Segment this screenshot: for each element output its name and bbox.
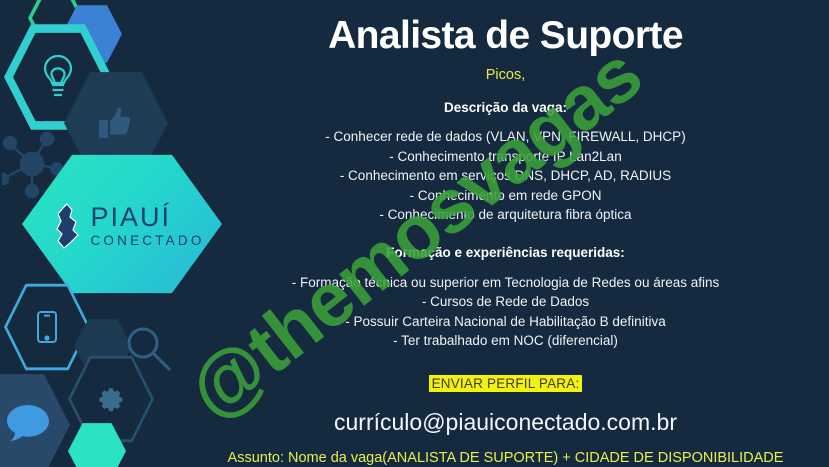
piaui-state-map-icon — [51, 203, 85, 249]
list-item: - Formação técnica ou superior em Tecnol… — [182, 273, 829, 293]
list-item: - Ter trabalhado em NOC (diferencial) — [182, 331, 829, 351]
list-item: - Conhecer rede de dados (VLAN, VPN, FIR… — [182, 127, 829, 147]
list-item: - Conhecimento transporte IP Lan2Lan — [182, 147, 829, 167]
job-content: Analista de Suporte Picos, Descrição da … — [182, 0, 829, 467]
job-posting-poster: PIAUÍ CONECTADO — [0, 0, 829, 467]
page-title: Analista de Suporte — [182, 0, 829, 57]
thumbs-up-icon — [96, 103, 136, 143]
send-profile-label: ENVIAR PERFIL PARA: — [429, 375, 583, 392]
list-item: - Conhecimento de arquitetura fibra ópti… — [182, 205, 829, 225]
list-item: - Conhecimento em rede GPON — [182, 186, 829, 206]
list-item: - Conhecimento em serviços DNS, DHCP, AD… — [182, 166, 829, 186]
requirements-heading: Formação e experiências requeridas: — [182, 245, 829, 260]
decor-hexagon-chat — [0, 372, 70, 467]
description-heading: Descrição da vaga: — [182, 100, 829, 115]
contact-email[interactable]: currículo@piauiconectado.com.br — [182, 409, 829, 436]
gear-icon — [97, 385, 125, 413]
email-subject-instruction: Assunto: Nome da vaga(ANALISTA DE SUPORT… — [182, 450, 829, 466]
job-city: Picos, — [182, 67, 829, 83]
requirements-list: - Formação técnica ou superior em Tecnol… — [182, 273, 829, 351]
smartphone-icon — [36, 310, 58, 344]
send-profile-row: ENVIAR PERFIL PARA: — [182, 375, 829, 393]
lightbulb-icon — [37, 52, 79, 102]
description-list: - Conhecer rede de dados (VLAN, VPN, FIR… — [182, 127, 829, 225]
list-item: - Cursos de Rede de Dados — [182, 292, 829, 312]
list-item: - Possuir Carteira Nacional de Habilitaç… — [182, 312, 829, 332]
chat-bubble-icon — [5, 402, 51, 444]
